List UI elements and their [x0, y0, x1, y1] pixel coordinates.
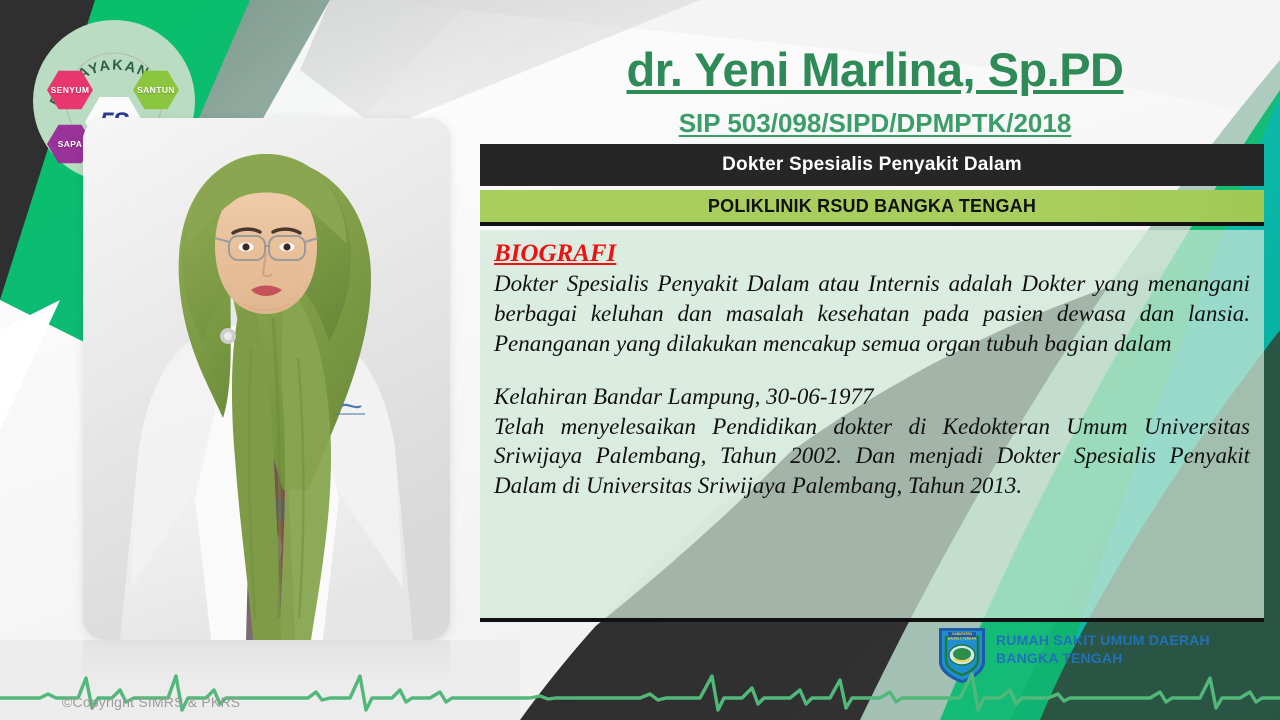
biography-paragraph-1: Dokter Spesialis Penyakit Dalam atau Int…: [494, 269, 1250, 359]
copyright-text: ©Copyright SIMRS & PKRS: [62, 694, 240, 710]
slide-canvas: BUDAYAKAN SENYUM SANTUN SAPA SOPAN SALAM…: [0, 0, 1280, 720]
biography-heading: BIOGRAFI: [494, 240, 1250, 268]
doctor-portrait-photo: [83, 118, 450, 640]
hex-senyum-label: SENYUM: [51, 85, 90, 95]
sip-license-text: SIP 503/098/SIPD/DPMPTK/2018: [679, 108, 1072, 138]
biography-spacer: [494, 359, 1250, 382]
specialty-label: Dokter Spesialis Penyakit Dalam: [722, 154, 1022, 176]
hex-senyum: SENYUM: [47, 70, 93, 110]
svg-text:BANGKA TENGAH: BANGKA TENGAH: [948, 637, 977, 641]
specialty-bar: Dokter Spesialis Penyakit Dalam: [480, 144, 1264, 186]
hex-sapa-label: SAPA: [58, 139, 83, 149]
clinic-bar: POLIKLINIK RSUD BANGKA TENGAH: [480, 190, 1264, 226]
biography-birth: Kelahiran Bandar Lampung, 30-06-1977: [494, 382, 1250, 412]
hex-santun-label: SANTUN: [137, 85, 175, 95]
biography-panel: BIOGRAFI Dokter Spesialis Penyakit Dalam…: [480, 230, 1264, 622]
doctor-photo-card: [83, 118, 450, 640]
hospital-name-line1: RUMAH SAKIT UMUM DAERAH: [996, 632, 1210, 650]
hex-santun: SANTUN: [133, 70, 179, 110]
biography-paragraph-2: Telah menyelesaikan Pendidikan dokter di…: [494, 412, 1250, 502]
ecg-heartbeat-line: [0, 660, 1280, 720]
sip-license: SIP 503/098/SIPD/DPMPTK/2018: [470, 108, 1280, 139]
doctor-name: dr. Yeni Marlina, Sp.PD: [627, 43, 1124, 96]
page-title: dr. Yeni Marlina, Sp.PD: [470, 42, 1280, 97]
svg-text:KABUPATEN: KABUPATEN: [952, 632, 972, 636]
clinic-label: POLIKLINIK RSUD BANGKA TENGAH: [708, 196, 1036, 217]
